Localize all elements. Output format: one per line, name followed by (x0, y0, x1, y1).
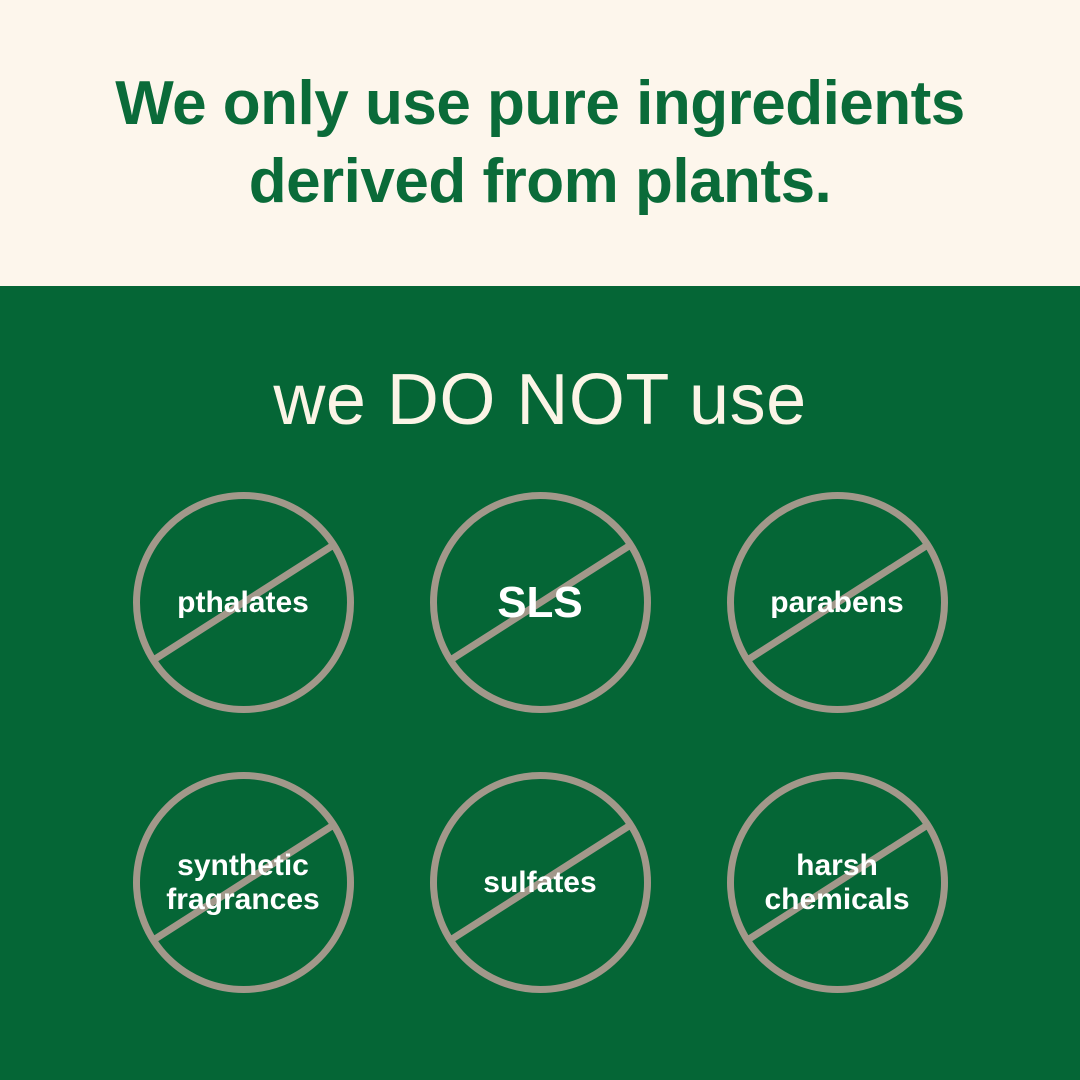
badge-synthetic-fragrances: synthetic fragrances (131, 770, 356, 995)
no-symbol-icon (428, 770, 653, 995)
no-symbol-icon (131, 490, 356, 715)
no-symbol-icon (725, 490, 950, 715)
no-symbol-icon (131, 770, 356, 995)
prohibited-ingredients-grid: pthalates SLS parabe (0, 490, 1080, 995)
badge-parabens: parabens (725, 490, 950, 715)
badge-pthalates: pthalates (131, 490, 356, 715)
section-subheading: we DO NOT use (0, 364, 1080, 436)
header-headline-line-2: derived from plants. (249, 143, 832, 221)
badge-harsh-chemicals: harsh chemicals (725, 770, 950, 995)
no-symbol-icon (428, 490, 653, 715)
body-band: we DO NOT use pthalates SLS (0, 286, 1080, 1080)
header-headline-line-1: We only use pure ingredients (115, 65, 965, 143)
no-symbol-icon (725, 770, 950, 995)
badge-sls: SLS (428, 490, 653, 715)
header-band: We only use pure ingredients derived fro… (0, 0, 1080, 286)
poster-canvas: We only use pure ingredients derived fro… (0, 0, 1080, 1080)
badge-sulfates: sulfates (428, 770, 653, 995)
